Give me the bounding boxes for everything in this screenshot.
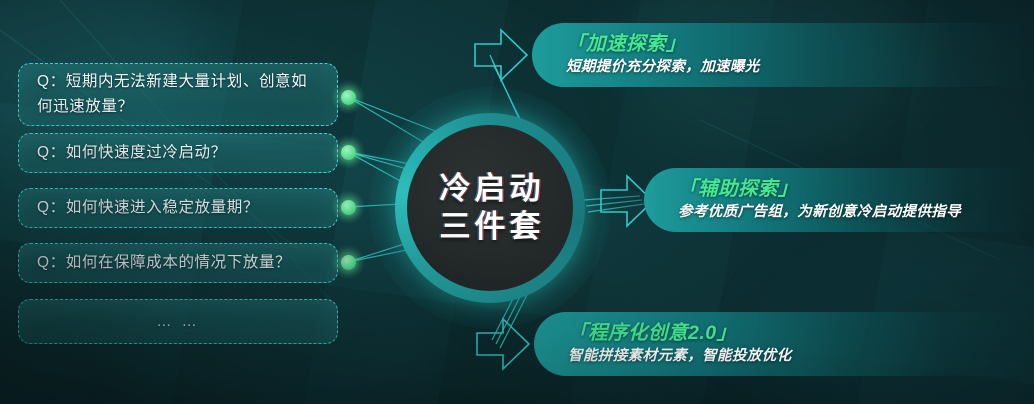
arrow-right-outline-icon (473, 315, 533, 373)
connector-dot (331, 80, 365, 114)
center-hub: 冷启动 三件套 (395, 113, 585, 303)
result-panel-subtitle: 短期提价充分探索，加速曝光 (566, 58, 1034, 77)
question-card[interactable]: Q：如何在保障成本的情况下放量？ (18, 243, 338, 283)
hub-disc: 冷启动 三件套 (407, 125, 573, 291)
result-panel-title: 「辅助探索」 (678, 178, 1034, 202)
hub-title-line1: 冷启动 (436, 170, 545, 208)
ellipsis-text: … … (156, 310, 199, 333)
connector-dot (331, 135, 365, 169)
result-panel-title: 「程序化创意2.0」 (568, 322, 1034, 346)
question-text: Q：如何快速进入稳定放量期？ (37, 196, 259, 220)
connector-dot (331, 245, 365, 279)
question-card[interactable]: Q：如何快速进入稳定放量期？ (18, 188, 338, 228)
infographic-canvas: Q：短期内无法新建大量计划、创意如何迅速放量？ Q：如何快速度过冷启动？ Q：如… (0, 0, 1034, 404)
question-text: Q：如何快速度过冷启动？ (37, 141, 227, 165)
result-panel-title: 「加速探索」 (566, 33, 1034, 57)
result-panel[interactable]: 「加速探索」 短期提价充分探索，加速曝光 (532, 23, 1034, 87)
connector-dot (331, 190, 365, 224)
result-panel[interactable]: 「程序化创意2.0」 智能拼接素材元素，智能投放优化 (534, 312, 1034, 376)
question-card[interactable]: Q：如何快速度过冷启动？ (18, 133, 338, 173)
result-panel-subtitle: 参考优质广告组，为新创意冷启动提供指导 (678, 203, 1034, 222)
result-panel[interactable]: 「辅助探索」 参考优质广告组，为新创意冷启动提供指导 (644, 168, 1034, 232)
result-panel-subtitle: 智能拼接素材元素，智能投放优化 (568, 347, 1034, 366)
question-text: Q：短期内无法新建大量计划、创意如何迅速放量？ (37, 70, 319, 118)
arrow-right-outline-icon (471, 26, 531, 84)
hub-title-line2: 三件套 (436, 208, 545, 246)
question-text: Q：如何在保障成本的情况下放量？ (37, 251, 291, 275)
question-card-ellipsis[interactable]: … … (18, 299, 338, 344)
question-card[interactable]: Q：短期内无法新建大量计划、创意如何迅速放量？ (18, 63, 338, 126)
